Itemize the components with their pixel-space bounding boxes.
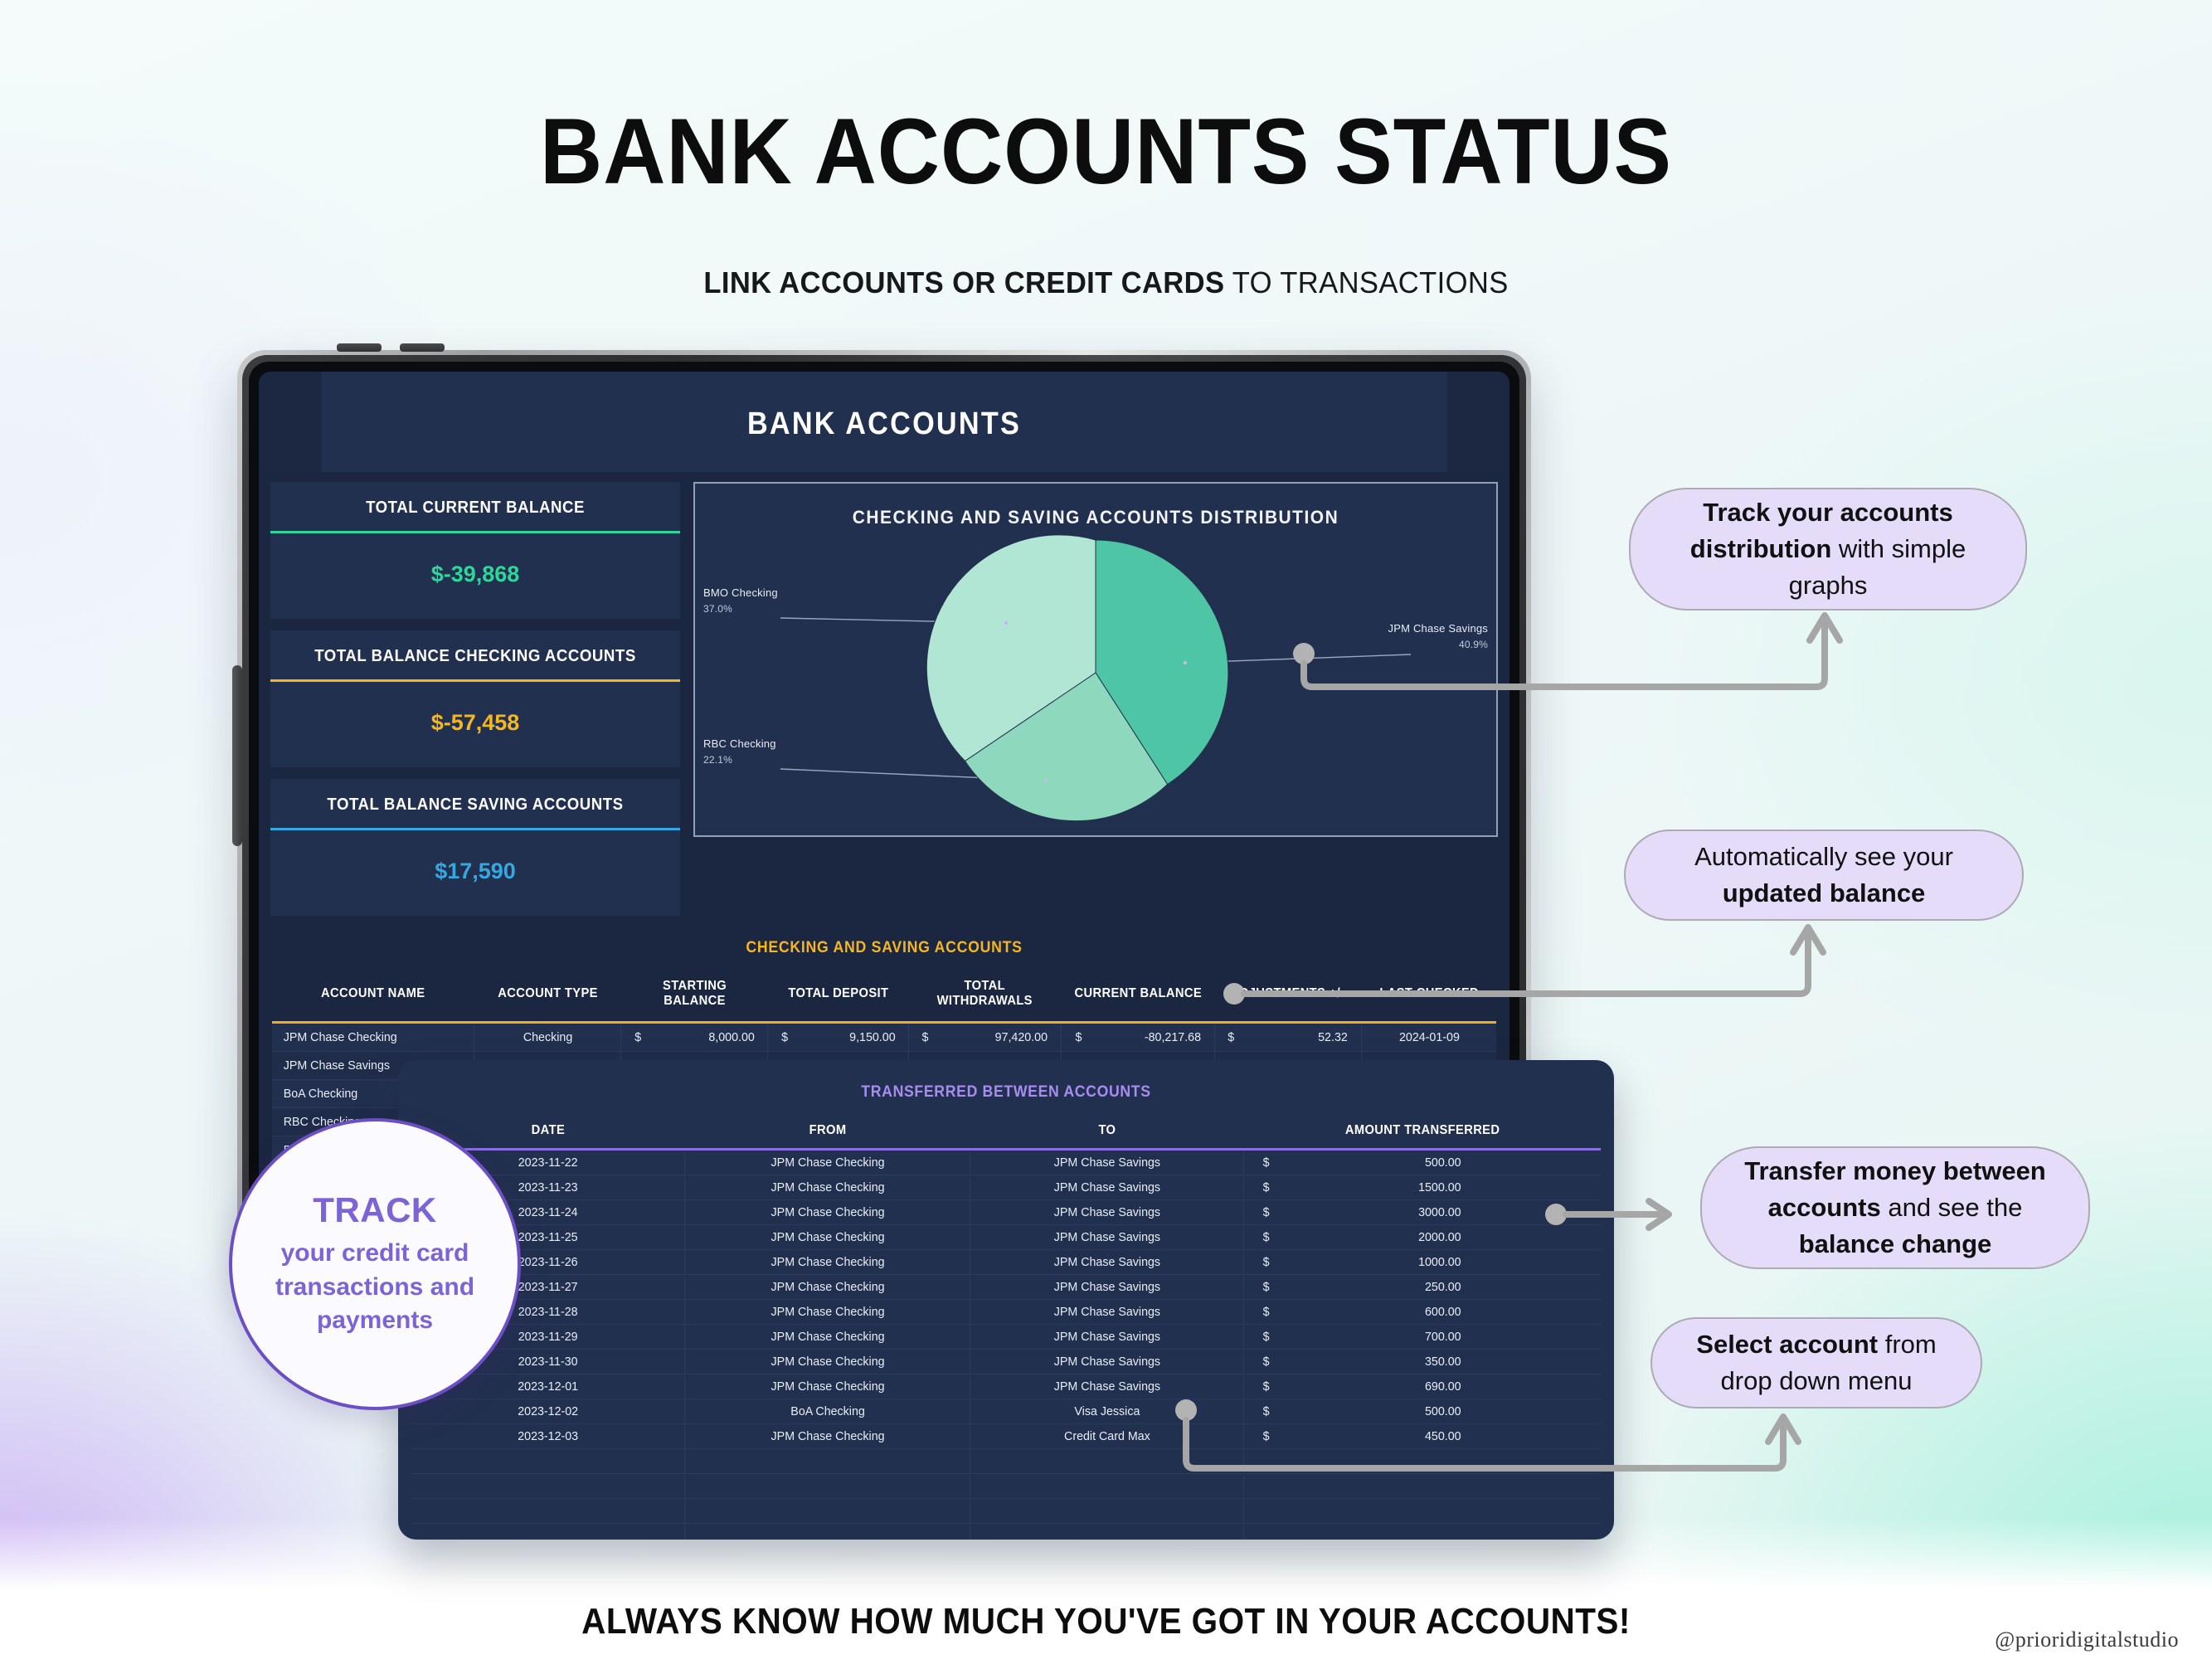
col-from[interactable]: FROM	[697, 1120, 960, 1150]
pie-label-rbc-checking: RBC Checking 22.1%	[703, 736, 776, 768]
col-amount-transferred[interactable]: AMOUNT TRANSFERRED	[1258, 1120, 1587, 1150]
kpi-column: TOTAL CURRENT BALANCE $-39,868 TOTAL BAL…	[270, 479, 680, 916]
footer-tagline: ALWAYS KNOW HOW MUCH YOU'VE GOT IN YOUR …	[89, 1601, 2124, 1642]
kpi-value: $-39,868	[270, 533, 680, 619]
currency-value: 1000.00	[1418, 1255, 1582, 1269]
pie-label-jpm-chase-savings: JPM Chase Savings 40.9%	[1388, 620, 1488, 653]
kpi-value: $-57,458	[270, 682, 680, 767]
cell-amount: $700.00	[1253, 1325, 1592, 1350]
currency-symbol: $	[1075, 1030, 1082, 1044]
kpi-label: TOTAL BALANCE CHECKING ACCOUNTS	[284, 630, 665, 679]
table-row[interactable]: JPM Chase CheckingChecking$8,000.00$9,15…	[272, 1022, 1496, 1051]
table-row[interactable]: 2023-11-26JPM Chase CheckingJPM Chase Sa…	[411, 1250, 1601, 1275]
callout-transfer-money: Transfer money between accounts and see …	[1700, 1146, 2090, 1269]
currency-symbol: $	[1228, 1030, 1235, 1044]
currency-symbol: $	[1262, 1205, 1269, 1219]
table-row[interactable]: 2023-11-28JPM Chase CheckingJPM Chase Sa…	[411, 1300, 1601, 1325]
cell-to: JPM Chase Savings	[977, 1175, 1237, 1200]
cell-date: 2023-12-03	[418, 1424, 678, 1449]
cell-amount: $1000.00	[1253, 1250, 1592, 1275]
cell-current-balance: $-80,217.68	[1066, 1022, 1211, 1051]
currency-value: 700.00	[1425, 1330, 1582, 1344]
cell-empty	[1253, 1524, 1592, 1540]
cell-to: JPM Chase Savings	[977, 1225, 1237, 1250]
table-row[interactable]: 2023-11-22JPM Chase CheckingJPM Chase Sa…	[411, 1150, 1601, 1175]
cell-amount: $450.00	[1253, 1424, 1592, 1449]
page-subtitle: LINK ACCOUNTS OR CREDIT CARDS TO TRANSAC…	[44, 265, 2167, 300]
cell-amount: $690.00	[1253, 1374, 1592, 1399]
tablet-volume-button[interactable]	[232, 665, 242, 846]
callout-bold: Select account	[1696, 1330, 1878, 1359]
table-row-empty[interactable]	[411, 1449, 1601, 1474]
cell-from: JPM Chase Checking	[692, 1300, 963, 1325]
page-subtitle-rest: TO TRANSACTIONS	[1224, 265, 1508, 299]
cell-to: JPM Chase Savings	[977, 1200, 1237, 1225]
transfers-table-body: 2023-11-22JPM Chase CheckingJPM Chase Sa…	[411, 1150, 1601, 1540]
table-row[interactable]: 2023-12-02BoA CheckingVisa Jessica$500.0…	[411, 1399, 1601, 1424]
cell-amount: $600.00	[1253, 1300, 1592, 1325]
pie-label-pct: 22.1%	[703, 752, 776, 768]
table-row[interactable]: 2023-11-24JPM Chase CheckingJPM Chase Sa…	[411, 1200, 1601, 1225]
col-starting-balance[interactable]: STARTING BALANCE	[627, 974, 762, 1022]
accounts-header-row: ACCOUNT NAME ACCOUNT TYPE STARTING BALAN…	[272, 974, 1496, 1022]
tablet-top-button-2[interactable]	[400, 343, 445, 352]
cell-amount: $2000.00	[1253, 1225, 1592, 1250]
callout-mid: and see the	[1881, 1193, 2023, 1222]
table-row-empty[interactable]	[411, 1524, 1601, 1540]
cell-from: BoA Checking	[692, 1399, 963, 1424]
kpi-label: TOTAL CURRENT BALANCE	[284, 482, 665, 531]
cell-empty	[418, 1499, 678, 1524]
cell-empty	[418, 1449, 678, 1474]
cell-last-checked: 2024-01-09	[1365, 1022, 1493, 1051]
track-badge-title: TRACK	[313, 1190, 436, 1230]
currency-value: -80,217.68	[1145, 1030, 1201, 1044]
page-title: BANK ACCOUNTS STATUS	[77, 98, 2134, 205]
pie-label-pct: 37.0%	[703, 601, 778, 617]
currency-value: 1500.00	[1418, 1180, 1582, 1194]
kpi-total-balance-saving[interactable]: TOTAL BALANCE SAVING ACCOUNTS $17,590	[270, 779, 680, 916]
table-row-empty[interactable]	[411, 1474, 1601, 1499]
currency-value: 450.00	[1425, 1429, 1582, 1443]
col-account-name[interactable]: ACCOUNT NAME	[280, 974, 466, 1022]
currency-value: 97,420.00	[995, 1030, 1048, 1044]
kpi-total-current-balance[interactable]: TOTAL CURRENT BALANCE $-39,868	[270, 482, 680, 619]
cell-from: JPM Chase Checking	[692, 1225, 963, 1250]
accounts-caption: CHECKING AND SAVING ACCOUNTS	[315, 931, 1454, 974]
col-total-withdrawals[interactable]: TOTAL WITHDRAWALS	[915, 974, 1056, 1022]
brand-handle: @prioridigitalstudio	[1995, 1627, 2179, 1652]
callout-track-distribution: Track your accounts distribution with si…	[1629, 488, 2027, 611]
cell-from: JPM Chase Checking	[692, 1175, 963, 1200]
pie-label-text: BMO Checking	[703, 586, 778, 599]
transfers-table: DATE FROM TO AMOUNT TRANSFERRED 2023-11-…	[411, 1120, 1601, 1540]
callout-plain: Automatically see your	[1694, 842, 1953, 871]
col-current-balance[interactable]: CURRENT BALANCE	[1067, 974, 1208, 1022]
col-adjustments[interactable]: ADJUSTMENTS +/-	[1221, 974, 1356, 1022]
cell-empty	[692, 1499, 963, 1524]
col-account-type[interactable]: ACCOUNT TYPE	[480, 974, 615, 1022]
transfers-header-row: DATE FROM TO AMOUNT TRANSFERRED	[411, 1120, 1601, 1150]
currency-symbol: $	[1262, 1330, 1269, 1344]
kpi-value: $17,590	[270, 830, 680, 916]
accounts-distribution-chart[interactable]: CHECKING AND SAVING ACCOUNTS DISTRIBUTIO…	[693, 482, 1498, 837]
cell-total-deposit: $9,150.00	[771, 1022, 905, 1051]
transfers-panel: TRANSFERRED BETWEEN ACCOUNTS DATE FROM T…	[398, 1060, 1614, 1540]
track-badge-text: your credit card transactions and paymen…	[232, 1237, 518, 1338]
cell-empty	[977, 1524, 1237, 1540]
currency-value: 3000.00	[1418, 1205, 1582, 1219]
callout-bold: updated balance	[1723, 878, 1926, 907]
cell-empty	[418, 1474, 678, 1499]
dashboard-top-row: TOTAL CURRENT BALANCE $-39,868 TOTAL BAL…	[259, 472, 1510, 916]
sheet-title: BANK ACCOUNTS	[321, 372, 1446, 472]
currency-value: 500.00	[1425, 1155, 1582, 1170]
cell-adjustments: $52.32	[1218, 1022, 1358, 1051]
currency-value: 52.32	[1319, 1030, 1349, 1044]
currency-symbol: $	[922, 1030, 929, 1044]
cell-amount: $250.00	[1253, 1275, 1592, 1300]
currency-value: 350.00	[1425, 1355, 1582, 1369]
cell-to: JPM Chase Savings	[977, 1374, 1237, 1399]
currency-value: 2000.00	[1418, 1230, 1582, 1244]
cell-to: JPM Chase Savings	[977, 1350, 1237, 1374]
currency-symbol: $	[1262, 1355, 1269, 1369]
cell-empty	[1253, 1499, 1592, 1524]
currency-symbol: $	[1262, 1379, 1269, 1394]
currency-value: 8,000.00	[708, 1030, 754, 1044]
pie-label-text: JPM Chase Savings	[1388, 622, 1488, 635]
kpi-label: TOTAL BALANCE SAVING ACCOUNTS	[284, 779, 665, 828]
cell-account-name: JPM Chase Checking	[277, 1022, 469, 1051]
cell-amount: $3000.00	[1253, 1200, 1592, 1225]
cell-empty	[977, 1499, 1237, 1524]
table-row-empty[interactable]	[411, 1499, 1601, 1524]
table-row[interactable]: 2023-11-23JPM Chase CheckingJPM Chase Sa…	[411, 1175, 1601, 1200]
table-row[interactable]: 2023-12-01JPM Chase CheckingJPM Chase Sa…	[411, 1374, 1601, 1399]
cell-empty	[1253, 1449, 1592, 1474]
currency-symbol: $	[1262, 1155, 1269, 1170]
cell-amount: $350.00	[1253, 1350, 1592, 1374]
table-row[interactable]: 2023-11-29JPM Chase CheckingJPM Chase Sa…	[411, 1325, 1601, 1350]
cell-from: JPM Chase Checking	[692, 1150, 963, 1175]
currency-symbol: $	[1262, 1255, 1269, 1269]
cell-to: JPM Chase Savings	[977, 1275, 1237, 1300]
cell-amount: $500.00	[1253, 1399, 1592, 1424]
cell-from: JPM Chase Checking	[692, 1424, 963, 1449]
table-row[interactable]: 2023-11-30JPM Chase CheckingJPM Chase Sa…	[411, 1350, 1601, 1374]
cell-empty	[418, 1524, 678, 1540]
cell-account-type: Checking	[478, 1022, 617, 1051]
currency-symbol: $	[1262, 1180, 1269, 1194]
cell-empty	[1253, 1474, 1592, 1499]
transfers-caption: TRANSFERRED BETWEEN ACCOUNTS	[453, 1060, 1559, 1120]
cell-from: JPM Chase Checking	[692, 1374, 963, 1399]
pie-label-pct: 40.9%	[1388, 637, 1488, 653]
currency-symbol: $	[1262, 1230, 1269, 1244]
kpi-total-balance-checking[interactable]: TOTAL BALANCE CHECKING ACCOUNTS $-57,458	[270, 630, 680, 767]
cell-empty	[692, 1474, 963, 1499]
currency-symbol: $	[1262, 1404, 1269, 1418]
cell-to: Visa Jessica	[977, 1399, 1237, 1424]
pie-label-bmo-checking: BMO Checking 37.0%	[703, 585, 778, 617]
pie-chart: BMO Checking 37.0% RBC Checking 22.1% JP…	[695, 484, 1496, 835]
col-to[interactable]: TO	[981, 1120, 1232, 1150]
cell-empty	[692, 1449, 963, 1474]
cell-to: Credit Card Max	[977, 1424, 1237, 1449]
cell-to: JPM Chase Savings	[977, 1150, 1237, 1175]
cell-from: JPM Chase Checking	[692, 1200, 963, 1225]
table-row[interactable]: 2023-12-03JPM Chase CheckingCredit Card …	[411, 1424, 1601, 1449]
cell-total-withdrawals: $97,420.00	[912, 1022, 1057, 1051]
page-subtitle-bold: LINK ACCOUNTS OR CREDIT CARDS	[703, 265, 1224, 299]
currency-value: 500.00	[1425, 1404, 1582, 1418]
cell-empty	[977, 1449, 1237, 1474]
callout-select-account: Select account from drop down menu	[1650, 1317, 1982, 1408]
cell-to: JPM Chase Savings	[977, 1325, 1237, 1350]
track-badge: TRACK your credit card transactions and …	[229, 1118, 521, 1410]
cell-empty	[977, 1474, 1237, 1499]
table-row[interactable]: 2023-11-27JPM Chase CheckingJPM Chase Sa…	[411, 1275, 1601, 1300]
currency-value: 250.00	[1425, 1280, 1582, 1294]
cell-amount: $1500.00	[1253, 1175, 1592, 1200]
currency-symbol: $	[1262, 1429, 1269, 1443]
cell-to: JPM Chase Savings	[977, 1300, 1237, 1325]
col-total-deposit[interactable]: TOTAL DEPOSIT	[774, 974, 903, 1022]
cell-amount: $500.00	[1253, 1150, 1592, 1175]
cell-from: JPM Chase Checking	[692, 1250, 963, 1275]
currency-symbol: $	[634, 1030, 641, 1044]
cell-from: JPM Chase Checking	[692, 1275, 963, 1300]
callout-updated-balance: Automatically see your updated balance	[1624, 829, 2024, 921]
cell-empty	[692, 1524, 963, 1540]
cell-from: JPM Chase Checking	[692, 1350, 963, 1374]
cell-to: JPM Chase Savings	[977, 1250, 1237, 1275]
pie-label-text: RBC Checking	[703, 737, 776, 750]
currency-symbol: $	[781, 1030, 788, 1044]
currency-symbol: $	[1262, 1280, 1269, 1294]
currency-value: 600.00	[1425, 1305, 1582, 1319]
cell-from: JPM Chase Checking	[692, 1325, 963, 1350]
currency-value: 690.00	[1425, 1379, 1582, 1394]
cell-date: 2023-12-02	[418, 1399, 678, 1424]
tablet-top-button-1[interactable]	[337, 343, 382, 352]
cell-starting-balance: $8,000.00	[625, 1022, 764, 1051]
col-last-checked[interactable]: LAST CHECKED	[1367, 974, 1490, 1022]
callout-bold-2: balance change	[1799, 1229, 1992, 1258]
table-row[interactable]: 2023-11-25JPM Chase CheckingJPM Chase Sa…	[411, 1225, 1601, 1250]
currency-symbol: $	[1262, 1305, 1269, 1319]
currency-value: 9,150.00	[849, 1030, 895, 1044]
